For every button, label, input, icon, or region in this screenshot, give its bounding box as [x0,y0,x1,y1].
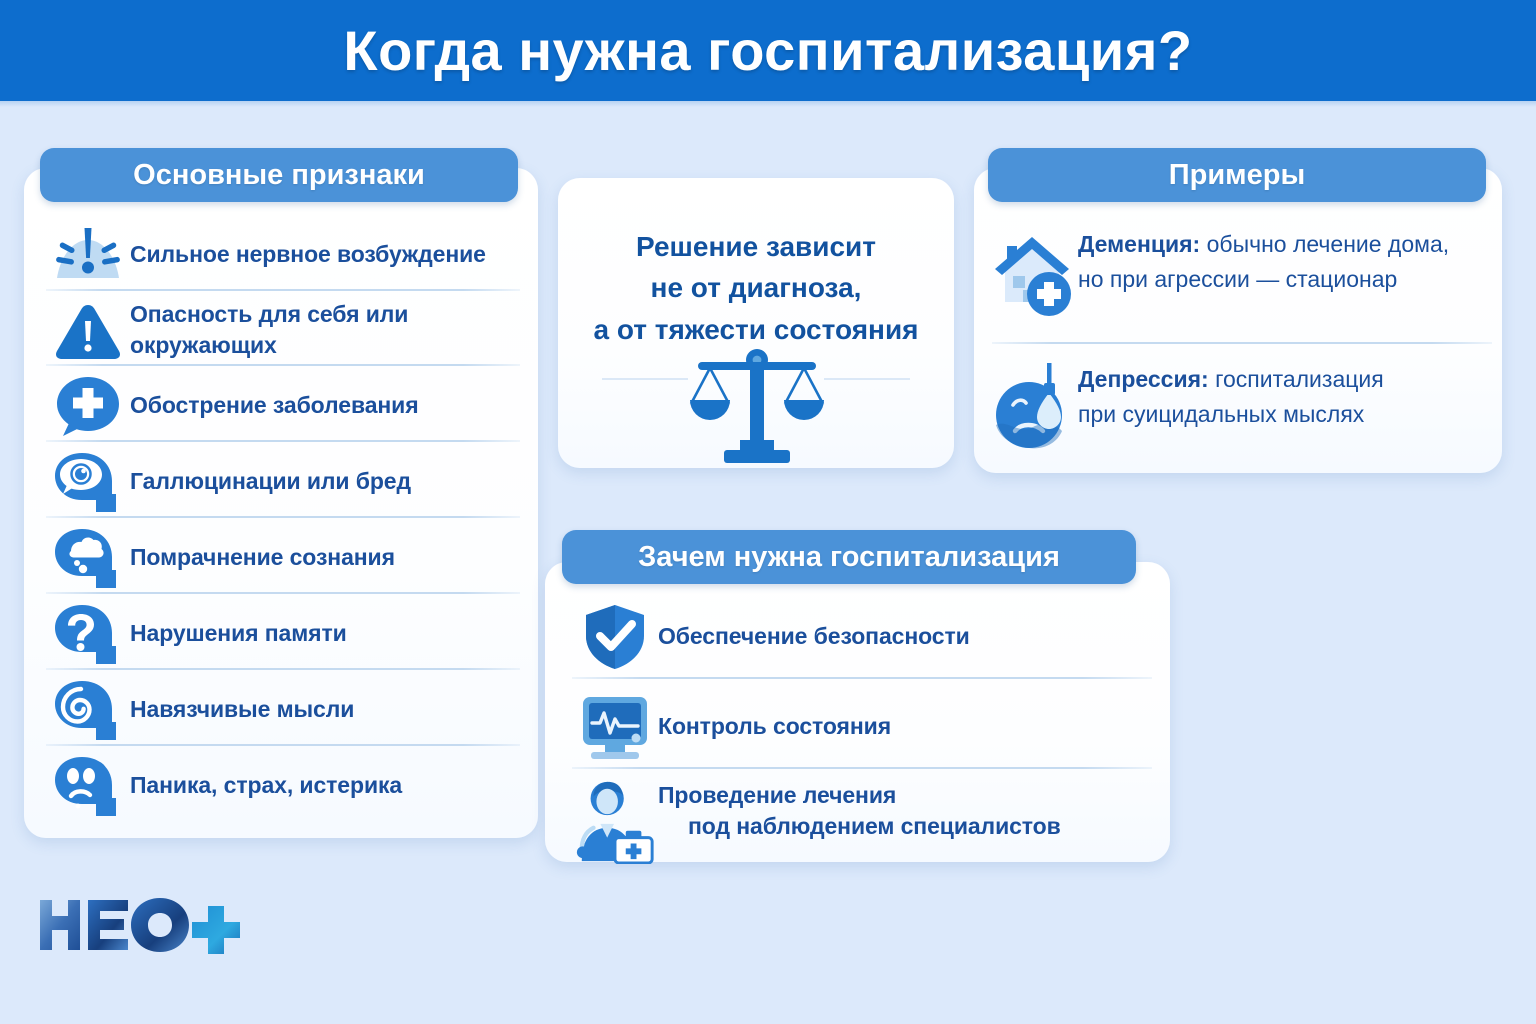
list-item[interactable]: Обострение заболевания [46,373,520,439]
list-item-label: Опасность для себя или окружающих [130,299,520,361]
warning-triangle-icon [46,297,130,363]
list-item-label: Обеспечение безопасности [658,621,970,652]
example-text: Деменция: обычно лечение дома, но при аг… [1078,225,1449,297]
signs-panel-header: Основные признаки [40,148,518,202]
list-item-label: Нарушения памяти [130,618,347,649]
statement-rule-right [824,378,910,380]
house-medical-icon [992,225,1078,321]
statement-rule-left [602,378,688,380]
head-eye-bubble-icon [46,449,130,515]
purpose-panel-header: Зачем нужна госпитализация [562,530,1136,584]
list-item[interactable]: Галлюцинации или бред [46,449,520,515]
shield-check-icon [572,602,658,672]
list-item-label: Обострение заболевания [130,390,419,421]
list-item[interactable]: Помрачнение сознания [46,525,520,591]
purpose-panel-title: Зачем нужна госпитализация [638,541,1060,574]
list-item-label: Помрачнение сознания [130,542,395,573]
list-item-label: Сильное нервное возбуждение [130,239,486,270]
list-divider [46,668,520,670]
header-underline [0,101,1536,107]
list-divider [46,440,520,442]
header-bar: Когда нужна госпитализация? [0,0,1536,101]
list-divider [46,744,520,746]
signs-panel-title: Основные признаки [133,159,425,192]
balance-scale-icon [684,340,830,471]
list-item[interactable]: Паника, страх, истерика [46,753,520,819]
examples-panel-title: Примеры [1169,159,1305,192]
list-item-label: Проведение лечения под наблюдением специ… [658,778,1061,842]
list-divider [46,289,520,291]
list-item[interactable]: Обеспечение безопасности [572,602,1152,672]
list-item[interactable]: Деменция: обычно лечение дома, но при аг… [992,225,1492,325]
list-item[interactable]: Депрессия: госпитализация при суицидальн… [992,360,1492,456]
list-divider [46,364,520,366]
head-cloud-icon [46,525,130,591]
example-line1-rest: обычно лечение дома, [1200,231,1449,257]
list-item[interactable]: Сильное нервное возбуждение [46,222,520,288]
list-item[interactable]: Контроль состояния [572,692,1152,762]
exclamation-burst-icon [46,222,130,288]
example-line2: но при агрессии — стационар [1078,266,1397,292]
list-divider [46,592,520,594]
example-lead: Депрессия: [1078,366,1209,392]
head-spiral-icon [46,677,130,743]
medical-cross-bubble-icon [46,373,130,439]
list-item[interactable]: Проведение лечения под наблюдением специ… [572,778,1152,866]
doctor-bag-icon [572,778,658,866]
list-divider [46,516,520,518]
head-panic-face-icon [46,753,130,819]
neo-plus-logo: НЕО+ [36,894,246,956]
example-line1-rest: госпитализация [1209,366,1384,392]
head-question-icon [46,601,130,667]
examples-panel-header: Примеры [988,148,1486,202]
page-title: Когда нужна госпитализация? [343,18,1192,83]
statement-line-1: Решение зависит [558,226,954,267]
statement-card: Решение зависит не от диагноза, а от тяж… [558,178,954,468]
list-item[interactable]: Нарушения памяти [46,601,520,667]
list-item[interactable]: Опасность для себя или окружающих [46,297,520,363]
example-line2: при суицидальных мыслях [1078,401,1364,427]
list-item[interactable]: Навязчивые мысли [46,677,520,743]
list-item-label: Паника, страх, истерика [130,770,402,801]
list-item-label: Галлюцинации или бред [130,466,411,497]
list-item-label: Контроль состояния [658,711,891,742]
list-divider [992,342,1492,344]
list-item-label: Навязчивые мысли [130,694,354,725]
list-divider [572,677,1152,679]
purpose-line-1: Проведение лечения [658,782,896,808]
sad-face-teardrop-icon [992,360,1078,452]
statement-text: Решение зависит не от диагноза, а от тяж… [558,226,954,350]
purpose-line-2: под наблюдением специалистов [658,811,1061,842]
list-divider [572,767,1152,769]
heart-monitor-icon [572,692,658,762]
example-lead: Деменция: [1078,231,1200,257]
statement-line-2: не от диагноза, [558,267,954,308]
example-text: Депрессия: госпитализация при суицидальн… [1078,360,1384,432]
